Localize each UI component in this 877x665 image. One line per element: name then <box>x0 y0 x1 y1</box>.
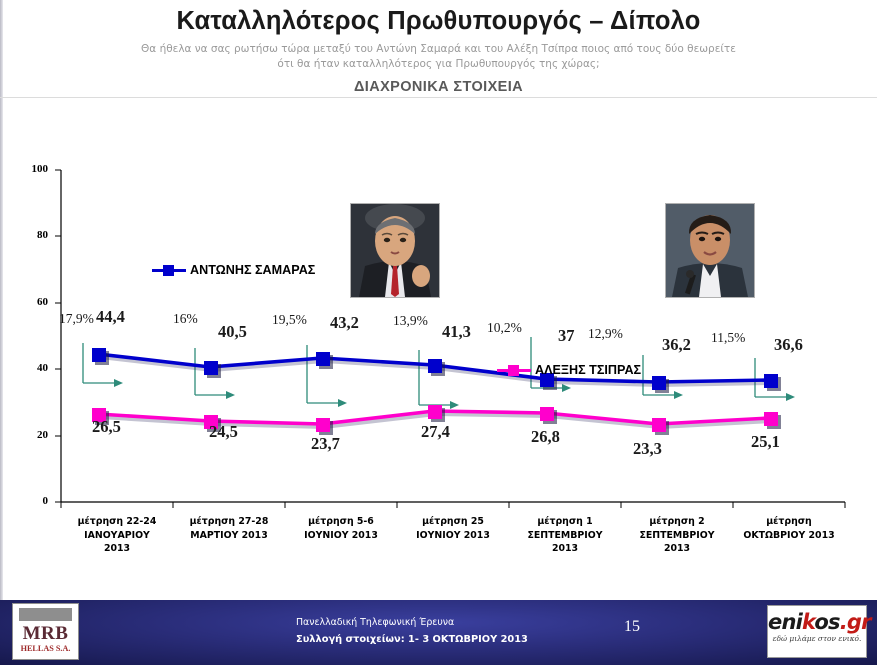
tsipras-portrait-svg <box>666 204 754 297</box>
mrb-logo-subtitle: HELLAS S.A. <box>13 644 78 654</box>
tsipras-value-label-6: 25,1 <box>751 432 780 452</box>
y-tick-label-0: 0 <box>16 495 48 507</box>
enikos-text-1: eni <box>768 610 802 634</box>
x-category-4-line-2: 2013 <box>509 542 621 556</box>
question-subtitle: Θα ήθελα να σας ρωτήσω τώρα μεταξύ του Α… <box>89 42 789 72</box>
footer-survey-info: Πανελλαδική Τηλεφωνική Έρευνα Συλλογή στ… <box>296 614 528 648</box>
x-category-0-line-2: 2013 <box>61 542 173 556</box>
mrb-logo-name: MRB <box>13 623 78 644</box>
tsipras-value-label-1: 24,5 <box>209 422 238 442</box>
header-divider <box>0 97 877 98</box>
x-category-4-line-0: μέτρηση 1 <box>509 515 621 529</box>
enikos-text-k: k <box>802 610 814 634</box>
enikos-text-gr: .gr <box>840 610 871 634</box>
samaras-portrait-svg <box>351 204 439 297</box>
enikos-text-2: os <box>814 610 839 634</box>
alexis-tsipras-photo <box>665 203 755 298</box>
x-category-label-2: μέτρηση 5-6 ΙΟΥΝΙΟΥ 2013 <box>285 515 397 542</box>
y-tick-marks <box>55 170 61 502</box>
gap-label-6: 11,5% <box>711 330 745 346</box>
enikos-logo-tagline: εδώ μιλάμε στον ενικό. <box>768 634 866 643</box>
antonis-samaras-photo <box>350 203 440 298</box>
tsipras-value-label-2: 23,7 <box>311 434 340 454</box>
footer-line-2: Συλλογή στοιχείων: 1- 3 ΟΚΤΩΒΡΙΟΥ 2013 <box>296 631 528 648</box>
slide-root: Καταλληλότερος Πρωθυπουργός – Δίπολο Θα … <box>0 0 877 665</box>
x-category-label-6: μέτρηση ΟΚΤΩΒΡΙΟΥ 2013 <box>733 515 845 542</box>
samaras-value-label-6: 36,6 <box>774 335 803 355</box>
gap-label-0: 17,9% <box>59 311 94 327</box>
blue-square-marker-icon <box>152 269 186 272</box>
chart-area: 100 80 60 40 20 0 ΑΝΤΩΝΗΣ ΣΑΜΑΡΑΣ ΑΛΕΞΗΣ… <box>0 100 877 585</box>
x-category-5-line-1: ΣΕΠΤΕΜΒΡΙΟΥ <box>621 529 733 543</box>
page-title: Καταλληλότερος Πρωθυπουργός – Δίπολο <box>0 6 877 36</box>
question-line-1: Θα ήθελα να σας ρωτήσω τώρα μεταξύ του Α… <box>89 42 789 57</box>
y-tick-label-80: 80 <box>16 229 48 241</box>
legend-item-tsipras[interactable]: ΑΛΕΞΗΣ ΤΣΙΠΡΑΣ <box>497 363 641 377</box>
x-category-6-line-1: ΟΚΤΩΒΡΙΟΥ 2013 <box>733 529 845 543</box>
tsipras-value-label-4: 26,8 <box>531 427 560 447</box>
gap-label-5: 12,9% <box>588 326 623 342</box>
x-category-label-1: μέτρηση 27-28 ΜΑΡΤΙΟΥ 2013 <box>173 515 285 542</box>
x-category-5-line-2: 2013 <box>621 542 733 556</box>
x-category-6-line-0: μέτρηση <box>733 515 845 529</box>
chart-svg <box>0 100 877 585</box>
samaras-value-label-4: 37 <box>558 326 575 346</box>
enikos-logo[interactable]: enikos.gr εδώ μιλάμε στον ενικό. <box>767 605 867 658</box>
legend-item-samaras[interactable]: ΑΝΤΩΝΗΣ ΣΑΜΑΡΑΣ <box>152 263 315 277</box>
tsipras-value-label-5: 23,3 <box>633 439 662 459</box>
page-number: 15 <box>612 618 652 636</box>
samaras-value-label-0: 44,4 <box>96 307 125 327</box>
x-category-2-line-0: μέτρηση 5-6 <box>285 515 397 529</box>
samaras-value-label-5: 36,2 <box>662 335 691 355</box>
samaras-value-label-1: 40,5 <box>218 322 247 342</box>
x-category-label-3: μέτρηση 25 ΙΟΥΝΙΟΥ 2013 <box>397 515 509 542</box>
gap-annotation-3 <box>419 350 459 409</box>
slide-footer: MRB HELLAS S.A. Πανελλαδική Τηλεφωνική Έ… <box>0 600 877 665</box>
question-line-2: ότι θα ήταν καταλληλότερος για Πρωθυπουρ… <box>89 57 789 72</box>
footer-line-1: Πανελλαδική Τηλεφωνική Έρευνα <box>296 614 528 631</box>
x-category-5-line-0: μέτρηση 2 <box>621 515 733 529</box>
x-category-label-5: μέτρηση 2 ΣΕΠΤΕΜΒΡΙΟΥ 2013 <box>621 515 733 556</box>
x-category-4-line-1: ΣΕΠΤΕΜΒΡΙΟΥ <box>509 529 621 543</box>
x-tick-marks <box>61 502 845 508</box>
gap-label-2: 19,5% <box>272 312 307 328</box>
x-category-label-4: μέτρηση 1 ΣΕΠΤΕΜΒΡΙΟΥ 2013 <box>509 515 621 556</box>
y-tick-label-20: 20 <box>16 429 48 441</box>
x-category-label-0: μέτρηση 22-24 ΙΑΝΟΥΑΡΙΟΥ 2013 <box>61 515 173 556</box>
y-tick-label-100: 100 <box>16 163 48 175</box>
tsipras-value-label-0: 26,5 <box>92 417 121 437</box>
gap-label-4: 10,2% <box>487 320 522 336</box>
tsipras-value-label-3: 27,4 <box>421 422 450 442</box>
slide-header: Καταλληλότερος Πρωθυπουργός – Δίπολο Θα … <box>0 0 877 95</box>
x-category-0-line-1: ΙΑΝΟΥΑΡΙΟΥ <box>61 529 173 543</box>
x-category-2-line-1: ΙΟΥΝΙΟΥ 2013 <box>285 529 397 543</box>
gap-label-1: 16% <box>173 311 198 327</box>
gap-label-3: 13,9% <box>393 313 428 329</box>
samaras-value-label-3: 41,3 <box>442 322 471 342</box>
mrb-logo: MRB HELLAS S.A. <box>12 603 79 660</box>
y-tick-label-60: 60 <box>16 296 48 308</box>
y-tick-label-40: 40 <box>16 362 48 374</box>
x-category-3-line-1: ΙΟΥΝΙΟΥ 2013 <box>397 529 509 543</box>
x-category-1-line-1: ΜΑΡΤΙΟΥ 2013 <box>173 529 285 543</box>
magenta-square-marker-icon <box>497 369 531 372</box>
mrb-logo-bar <box>19 608 72 621</box>
x-category-3-line-0: μέτρηση 25 <box>397 515 509 529</box>
samaras-value-label-2: 43,2 <box>330 313 359 333</box>
x-category-1-line-0: μέτρηση 27-28 <box>173 515 285 529</box>
legend-label-samaras: ΑΝΤΩΝΗΣ ΣΑΜΑΡΑΣ <box>190 263 315 277</box>
section-label: ΔΙΑΧΡΟΝΙΚΑ ΣΤΟΙΧΕΙΑ <box>0 79 877 95</box>
x-category-0-line-0: μέτρηση 22-24 <box>61 515 173 529</box>
legend-label-tsipras: ΑΛΕΞΗΣ ΤΣΙΠΡΑΣ <box>535 363 641 377</box>
